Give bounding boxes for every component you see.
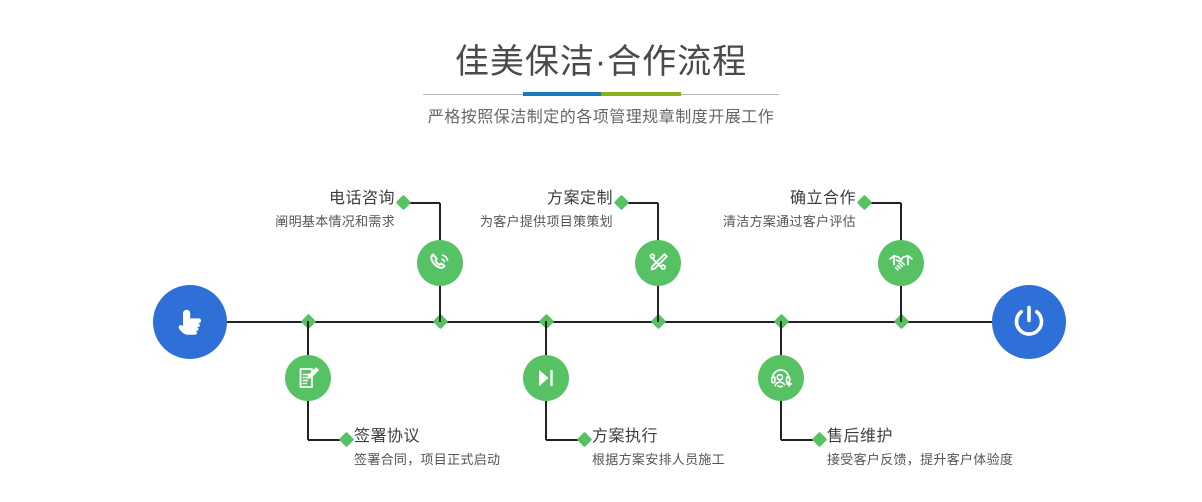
step-5-label: 售后维护 接受客户反馈，提升客户体验度 <box>827 426 1147 470</box>
document-edit-icon <box>296 366 321 391</box>
process-flow-infographic: 佳美保洁·合作流程 严格按照保洁制定的各项管理规章制度开展工作 电话咨询 阐 <box>0 0 1202 502</box>
title-divider-blue-segment <box>523 92 601 96</box>
page-subtitle: 严格按照保洁制定的各项管理规章制度开展工作 <box>0 106 1202 130</box>
step-1-icon-node[interactable] <box>285 355 331 401</box>
step-6-desc: 清洁方案通过客户评估 <box>556 212 856 232</box>
step-4-icon-node[interactable] <box>635 240 681 286</box>
power-button-icon <box>1008 301 1050 343</box>
phone-call-icon <box>427 250 453 276</box>
step-6-icon-node[interactable] <box>878 240 924 286</box>
step-5-icon-node[interactable] <box>758 355 804 401</box>
step-6-label-diamond <box>857 195 873 211</box>
page-title: 佳美保洁·合作流程 <box>0 40 1202 84</box>
step-1-label-diamond <box>339 432 355 448</box>
pointing-hand-icon <box>170 302 210 342</box>
handshake-icon <box>888 250 915 277</box>
flow-start-node[interactable] <box>153 285 227 359</box>
step-6-title: 确立合作 <box>556 188 856 210</box>
title-divider-green-segment <box>601 92 681 96</box>
step-5-desc: 接受客户反馈，提升客户体验度 <box>827 450 1147 470</box>
step-3-icon-node[interactable] <box>523 355 569 401</box>
pencil-design-icon <box>645 250 671 276</box>
customer-support-add-icon <box>769 366 794 391</box>
step-5-title: 售后维护 <box>827 426 1147 448</box>
flow-end-node[interactable] <box>992 285 1066 359</box>
play-forward-icon <box>534 366 559 391</box>
step-2-icon-node[interactable] <box>417 240 463 286</box>
step-6-label: 确立合作 清洁方案通过客户评估 <box>556 188 856 232</box>
